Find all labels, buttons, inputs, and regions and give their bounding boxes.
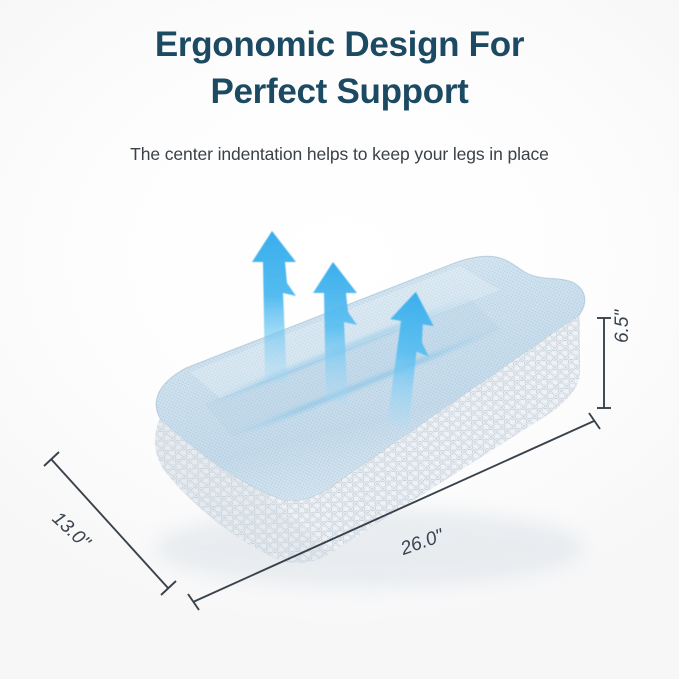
dimension-label-height: 6.5" xyxy=(612,310,634,343)
pillow-illustration xyxy=(0,0,679,679)
product-infographic: Ergonomic Design For Perfect Support The… xyxy=(0,0,679,679)
dimension-line-height xyxy=(597,318,611,408)
